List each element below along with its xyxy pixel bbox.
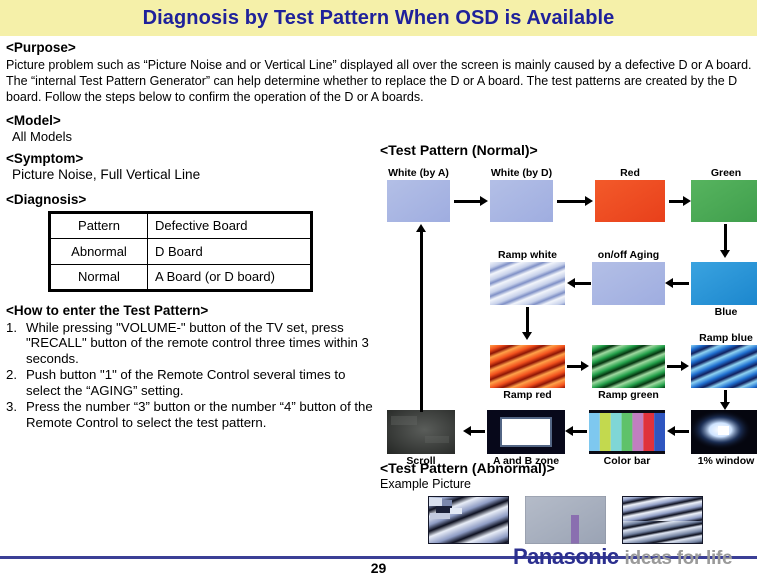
model-heading: <Model>	[6, 113, 378, 129]
swatch-white-by-a	[387, 180, 450, 222]
arrowhead-down	[720, 250, 730, 258]
node-one-pct-window: 1% window	[691, 410, 757, 454]
arrowhead-left	[665, 278, 673, 288]
node-label-green: Green	[711, 168, 741, 179]
swatch-scroll	[387, 410, 455, 454]
purpose-section: <Purpose> Picture problem such as “Pictu…	[6, 40, 756, 105]
node-label-ramp-red: Ramp red	[503, 390, 551, 401]
arrow-ramp-white-to-ramp-red	[526, 307, 529, 334]
arrowhead-right	[585, 196, 593, 206]
node-label-white-by-a: White (by A)	[388, 168, 449, 179]
node-white-by-d: White (by D)	[490, 180, 553, 222]
normal-heading: <Test Pattern (Normal)>	[380, 142, 757, 158]
symptom-heading: <Symptom>	[6, 151, 378, 167]
howto-section: <How to enter the Test Pattern> 1. While…	[6, 303, 378, 432]
page-title: Diagnosis by Test Pattern When OSD is Av…	[143, 7, 615, 30]
howto-list: 1. While pressing "VOLUME-" button of th…	[6, 320, 378, 432]
table-row: Pattern Defective Board	[50, 212, 312, 238]
arrowhead-left	[463, 426, 471, 436]
swatch-a-and-b-zone	[487, 410, 565, 454]
table-cell-normal: Normal	[50, 264, 148, 290]
step-text: While pressing "VOLUME-" button of the T…	[26, 320, 369, 367]
test-pattern-flow-diagram: White (by A) White (by D) Red Green	[380, 166, 757, 466]
abnormal-image-row	[428, 496, 757, 544]
abnormal-ramp-broken-image	[428, 496, 509, 544]
arrowhead-right	[681, 361, 689, 371]
model-section: <Model> All Models	[6, 113, 378, 145]
model-text: All Models	[12, 129, 378, 145]
step-text: Push button "1" of the Remote Control se…	[26, 367, 345, 398]
node-label-onoff-aging: on/off Aging	[598, 250, 659, 261]
node-white-by-a: White (by A)	[387, 180, 450, 222]
swatch-ramp-white	[490, 262, 565, 305]
arrow-white-d-to-red	[557, 200, 587, 203]
step-number: 2.	[6, 367, 17, 383]
step-number: 1.	[6, 320, 17, 336]
arrowhead-right	[581, 361, 589, 371]
node-blue: Blue	[691, 262, 757, 305]
node-color-bar: Color bar	[589, 410, 665, 454]
swatch-white-by-d	[490, 180, 553, 222]
arrow-color-bar-to-a-and-b-zone	[571, 430, 587, 433]
symptom-text: Picture Noise, Full Vertical Line	[12, 167, 378, 183]
list-item: 3. Press the number “3” button or the nu…	[6, 399, 378, 431]
diagnosis-table: Pattern Defective Board Abnormal D Board…	[48, 211, 313, 292]
title-banner: Diagnosis by Test Pattern When OSD is Av…	[0, 0, 757, 36]
node-scroll: Scroll	[387, 410, 455, 454]
swatch-red	[595, 180, 665, 222]
table-row: Abnormal D Board	[50, 238, 312, 264]
swatch-ramp-green	[592, 345, 665, 388]
node-label-ramp-white: Ramp white	[498, 250, 557, 261]
brand-name: Panasonic	[513, 544, 619, 570]
table-cell-abnormal: Abnormal	[50, 238, 148, 264]
table-row: Normal A Board (or D board)	[50, 264, 312, 290]
node-ramp-white: Ramp white	[490, 262, 565, 305]
table-header-pattern: Pattern	[50, 212, 148, 238]
symptom-section: <Symptom> Picture Noise, Full Vertical L…	[6, 151, 378, 183]
arrowhead-up	[416, 224, 426, 232]
node-ramp-red: Ramp red	[490, 345, 565, 388]
test-pattern-normal-section: <Test Pattern (Normal)> White (by A) Whi…	[380, 142, 757, 462]
swatch-blue	[691, 262, 757, 305]
test-pattern-abnormal-section: <Test Pattern (Abnormal)> Example Pictur…	[380, 460, 757, 544]
arrowhead-left	[667, 426, 675, 436]
arrow-green-to-blue	[724, 224, 727, 252]
abnormal-ramp-shifted-image	[622, 496, 703, 544]
howto-heading: <How to enter the Test Pattern>	[6, 303, 378, 319]
arrow-blue-to-onoff-aging	[671, 282, 689, 285]
arrowhead-right	[480, 196, 488, 206]
swatch-ramp-red	[490, 345, 565, 388]
swatch-one-pct-window	[691, 410, 757, 454]
arrowhead-right	[683, 196, 691, 206]
node-label-blue: Blue	[715, 307, 738, 318]
purpose-heading: <Purpose>	[6, 40, 756, 56]
arrow-scroll-to-white-by-a-loop	[420, 232, 423, 412]
swatch-color-bar	[589, 410, 665, 454]
abnormal-gray-vbar-image	[525, 496, 606, 544]
abnormal-subtitle: Example Picture	[380, 477, 757, 491]
arrowhead-down	[522, 332, 532, 340]
node-label-red: Red	[620, 168, 640, 179]
purpose-text: Picture problem such as “Picture Noise a…	[6, 57, 756, 105]
node-ramp-blue: Ramp blue	[691, 345, 757, 388]
diagnosis-section: <Diagnosis> Pattern Defective Board Abno…	[6, 192, 378, 292]
node-ramp-green: Ramp green	[592, 345, 665, 388]
node-red: Red	[595, 180, 665, 222]
node-label-ramp-green: Ramp green	[598, 390, 659, 401]
list-item: 1. While pressing "VOLUME-" button of th…	[6, 320, 378, 368]
step-number: 3.	[6, 399, 17, 415]
node-label-white-by-d: White (by D)	[491, 168, 552, 179]
arrow-a-and-b-zone-to-scroll	[469, 430, 485, 433]
arrow-white-a-to-white-d	[454, 200, 482, 203]
node-green: Green	[691, 180, 757, 222]
node-onoff-aging: on/off Aging	[592, 262, 665, 305]
step-text: Press the number “3” button or the numbe…	[26, 399, 373, 430]
left-column: <Purpose> Picture problem such as “Pictu…	[6, 40, 378, 431]
node-a-and-b-zone: A and B zone	[487, 410, 565, 454]
brand-logo: Panasonic ideas for life	[513, 544, 732, 570]
swatch-ramp-blue	[691, 345, 757, 388]
swatch-onoff-aging	[592, 262, 665, 305]
arrow-window-to-color-bar	[673, 430, 689, 433]
brand-tagline: ideas for life	[625, 548, 733, 570]
list-item: 2. Push button "1" of the Remote Control…	[6, 367, 378, 399]
node-label-ramp-blue: Ramp blue	[699, 333, 753, 344]
swatch-green	[691, 180, 757, 222]
table-cell-a-board: A Board (or D board)	[148, 264, 312, 290]
arrowhead-left	[565, 426, 573, 436]
abnormal-heading: <Test Pattern (Abnormal)>	[380, 460, 757, 476]
arrowhead-down	[720, 402, 730, 410]
diagnosis-heading: <Diagnosis>	[6, 192, 378, 208]
table-cell-d-board: D Board	[148, 238, 312, 264]
table-header-defective-board: Defective Board	[148, 212, 312, 238]
arrowhead-left	[567, 278, 575, 288]
arrow-onoff-aging-to-ramp-white	[573, 282, 591, 285]
